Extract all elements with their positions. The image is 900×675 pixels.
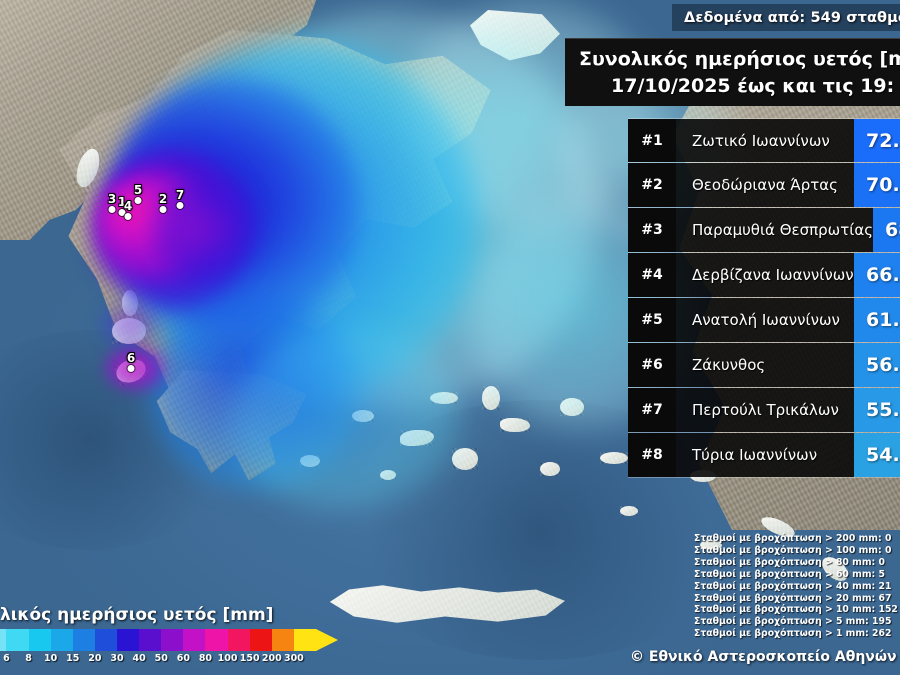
colorbar-tick: 200 <box>262 653 282 664</box>
colorbar-segment <box>51 629 73 651</box>
island <box>600 452 628 464</box>
station-value: 55. <box>854 388 900 432</box>
colorbar-tick: 150 <box>240 653 260 664</box>
title-banner: Συνολικός ημερήσιος υετός [mm] 17/10/202… <box>565 38 900 106</box>
table-row: #4Δερβίζανα Ιωαννίνων66. <box>628 253 900 298</box>
colorbar-segment <box>294 629 316 651</box>
station-name: Θεοδώριανα Άρτας <box>676 163 854 207</box>
colorbar <box>0 629 316 651</box>
rank-number: #8 <box>628 433 676 477</box>
colorbar-segment <box>161 629 183 651</box>
marker-dot-icon <box>109 206 116 213</box>
stat-line: Σταθμοί με βροχόπτωση > 100 mm: 0 <box>694 545 900 557</box>
island <box>540 462 560 476</box>
colorbar-segment <box>272 629 294 651</box>
stat-line: Σταθμοί με βροχόπτωση > 60 mm: 5 <box>694 569 900 581</box>
threshold-statistics: Σταθμοί με βροχόπτωση > 200 mm: 0Σταθμοί… <box>694 533 900 640</box>
landmass-north-snow <box>470 10 560 80</box>
marker-dot-icon <box>160 206 167 213</box>
stat-line: Σταθμοί με βροχόπτωση > 40 mm: 21 <box>694 581 900 593</box>
stat-line: Σταθμοί με βροχόπτωση > 20 mm: 67 <box>694 593 900 605</box>
island <box>400 430 434 446</box>
title-line-2: 17/10/2025 έως και τις 19: <box>579 73 900 99</box>
station-value: 54. <box>854 433 900 477</box>
copyright-text: © Εθνικό Αστεροσκοπείο Αθηνών - m <box>630 649 900 665</box>
island <box>452 448 478 470</box>
station-name: Ζωτικό Ιωαννίνων <box>676 119 854 162</box>
precipitation-legend: λικός ημερήσιος υετός [mm] 1246810152030… <box>0 605 348 667</box>
colorbar-segment <box>205 629 227 651</box>
rank-number: #5 <box>628 298 676 342</box>
station-value: 61. <box>854 298 900 342</box>
colorbar-tick: 300 <box>284 653 304 664</box>
marker-label: 2 <box>159 193 167 205</box>
table-row: #8Τύρια Ιωαννίνων54. <box>628 433 900 478</box>
colorbar-segment <box>6 629 28 651</box>
island <box>620 506 638 516</box>
marker-label: 3 <box>108 193 116 205</box>
colorbar-segment <box>117 629 139 651</box>
station-name: Παραμυθιά Θεσπρωτίας <box>676 208 873 252</box>
marker-label: 6 <box>127 352 135 364</box>
island <box>300 455 320 467</box>
stat-line: Σταθμοί με βροχόπτωση > 200 mm: 0 <box>694 533 900 545</box>
station-name: Δερβίζανα Ιωαννίνων <box>676 253 854 297</box>
colorbar-tick-labels: 124681015203040506080100150200300 <box>0 653 316 667</box>
table-row: #2Θεοδώριανα Άρτας70. <box>628 163 900 208</box>
table-row: #6Ζάκυνθος56. <box>628 343 900 388</box>
colorbar-tick: 80 <box>199 653 212 664</box>
title-line-1: Συνολικός ημερήσιος υετός [mm] <box>579 46 900 72</box>
rank-number: #6 <box>628 343 676 387</box>
table-row: #7Περτούλι Τρικάλων55. <box>628 388 900 433</box>
island-lefkada <box>122 290 138 316</box>
station-value: 68. <box>873 208 900 252</box>
rank-number: #2 <box>628 163 676 207</box>
station-marker-6: 6 <box>120 346 142 372</box>
stat-line: Σταθμοί με βροχόπτωση > 10 mm: 152 <box>694 604 900 616</box>
colorbar-tick: 15 <box>66 653 79 664</box>
station-marker-7: 7 <box>169 183 191 209</box>
landmass-crete <box>325 578 565 630</box>
rank-number: #3 <box>628 208 676 252</box>
colorbar-tick: 60 <box>177 653 190 664</box>
station-name: Ζάκυνθος <box>676 343 854 387</box>
marker-label: 7 <box>176 189 184 201</box>
table-row: #5Ανατολή Ιωαννίνων61. <box>628 298 900 343</box>
marker-dot-icon <box>128 365 135 372</box>
island <box>560 398 584 416</box>
stat-line: Σταθμοί με βροχόπτωση > 80 mm: 0 <box>694 557 900 569</box>
marker-label: 5 <box>134 184 142 196</box>
colorbar-segment <box>228 629 250 651</box>
legend-title: λικός ημερήσιος υετός [mm] <box>0 605 348 625</box>
colorbar-segment <box>139 629 161 651</box>
station-marker-5: 5 <box>127 178 149 204</box>
station-value: 72. <box>854 119 900 162</box>
island <box>482 386 500 410</box>
island <box>380 470 396 480</box>
island <box>500 418 530 432</box>
colorbar-segment <box>95 629 117 651</box>
landmass-peloponnese <box>150 370 320 490</box>
station-name: Περτούλι Τρικάλων <box>676 388 854 432</box>
station-value: 70. <box>854 163 900 207</box>
marker-dot-icon <box>135 197 142 204</box>
station-name: Ανατολή Ιωαννίνων <box>676 298 854 342</box>
data-source-text: Δεδομένα από: 549 σταθμούς <box>684 10 900 26</box>
top-stations-table: #1Ζωτικό Ιωαννίνων72.#2Θεοδώριανα Άρτας7… <box>628 118 900 478</box>
colorbar-tick: 20 <box>88 653 101 664</box>
colorbar-segment <box>183 629 205 651</box>
colorbar-segment <box>73 629 95 651</box>
marker-dot-icon <box>177 202 184 209</box>
colorbar-tick: 100 <box>218 653 238 664</box>
stat-line: Σταθμοί με βροχόπτωση > 5 mm: 195 <box>694 616 900 628</box>
station-name: Τύρια Ιωαννίνων <box>676 433 854 477</box>
island <box>352 410 374 422</box>
island <box>430 392 458 404</box>
rank-number: #4 <box>628 253 676 297</box>
colorbar-segment <box>29 629 51 651</box>
colorbar-tick: 8 <box>25 653 32 664</box>
colorbar-tick: 30 <box>110 653 123 664</box>
island-kefalonia <box>112 318 146 344</box>
table-row: #1Ζωτικό Ιωαννίνων72. <box>628 118 900 163</box>
station-value: 56. <box>854 343 900 387</box>
rank-number: #1 <box>628 119 676 162</box>
colorbar-tick: 40 <box>132 653 145 664</box>
stat-line: Σταθμοί με βροχόπτωση > 1 mm: 262 <box>694 628 900 640</box>
colorbar-arrow-icon <box>316 629 338 651</box>
colorbar-tick: 50 <box>155 653 168 664</box>
colorbar-wrapper <box>0 629 348 651</box>
colorbar-tick: 6 <box>3 653 10 664</box>
marker-dot-icon <box>125 213 132 220</box>
table-row: #3Παραμυθιά Θεσπρωτίας68. <box>628 208 900 253</box>
colorbar-segment <box>250 629 272 651</box>
station-value: 66. <box>854 253 900 297</box>
colorbar-tick: 10 <box>44 653 57 664</box>
rank-number: #7 <box>628 388 676 432</box>
data-source-banner: Δεδομένα από: 549 σταθμούς <box>672 4 900 31</box>
